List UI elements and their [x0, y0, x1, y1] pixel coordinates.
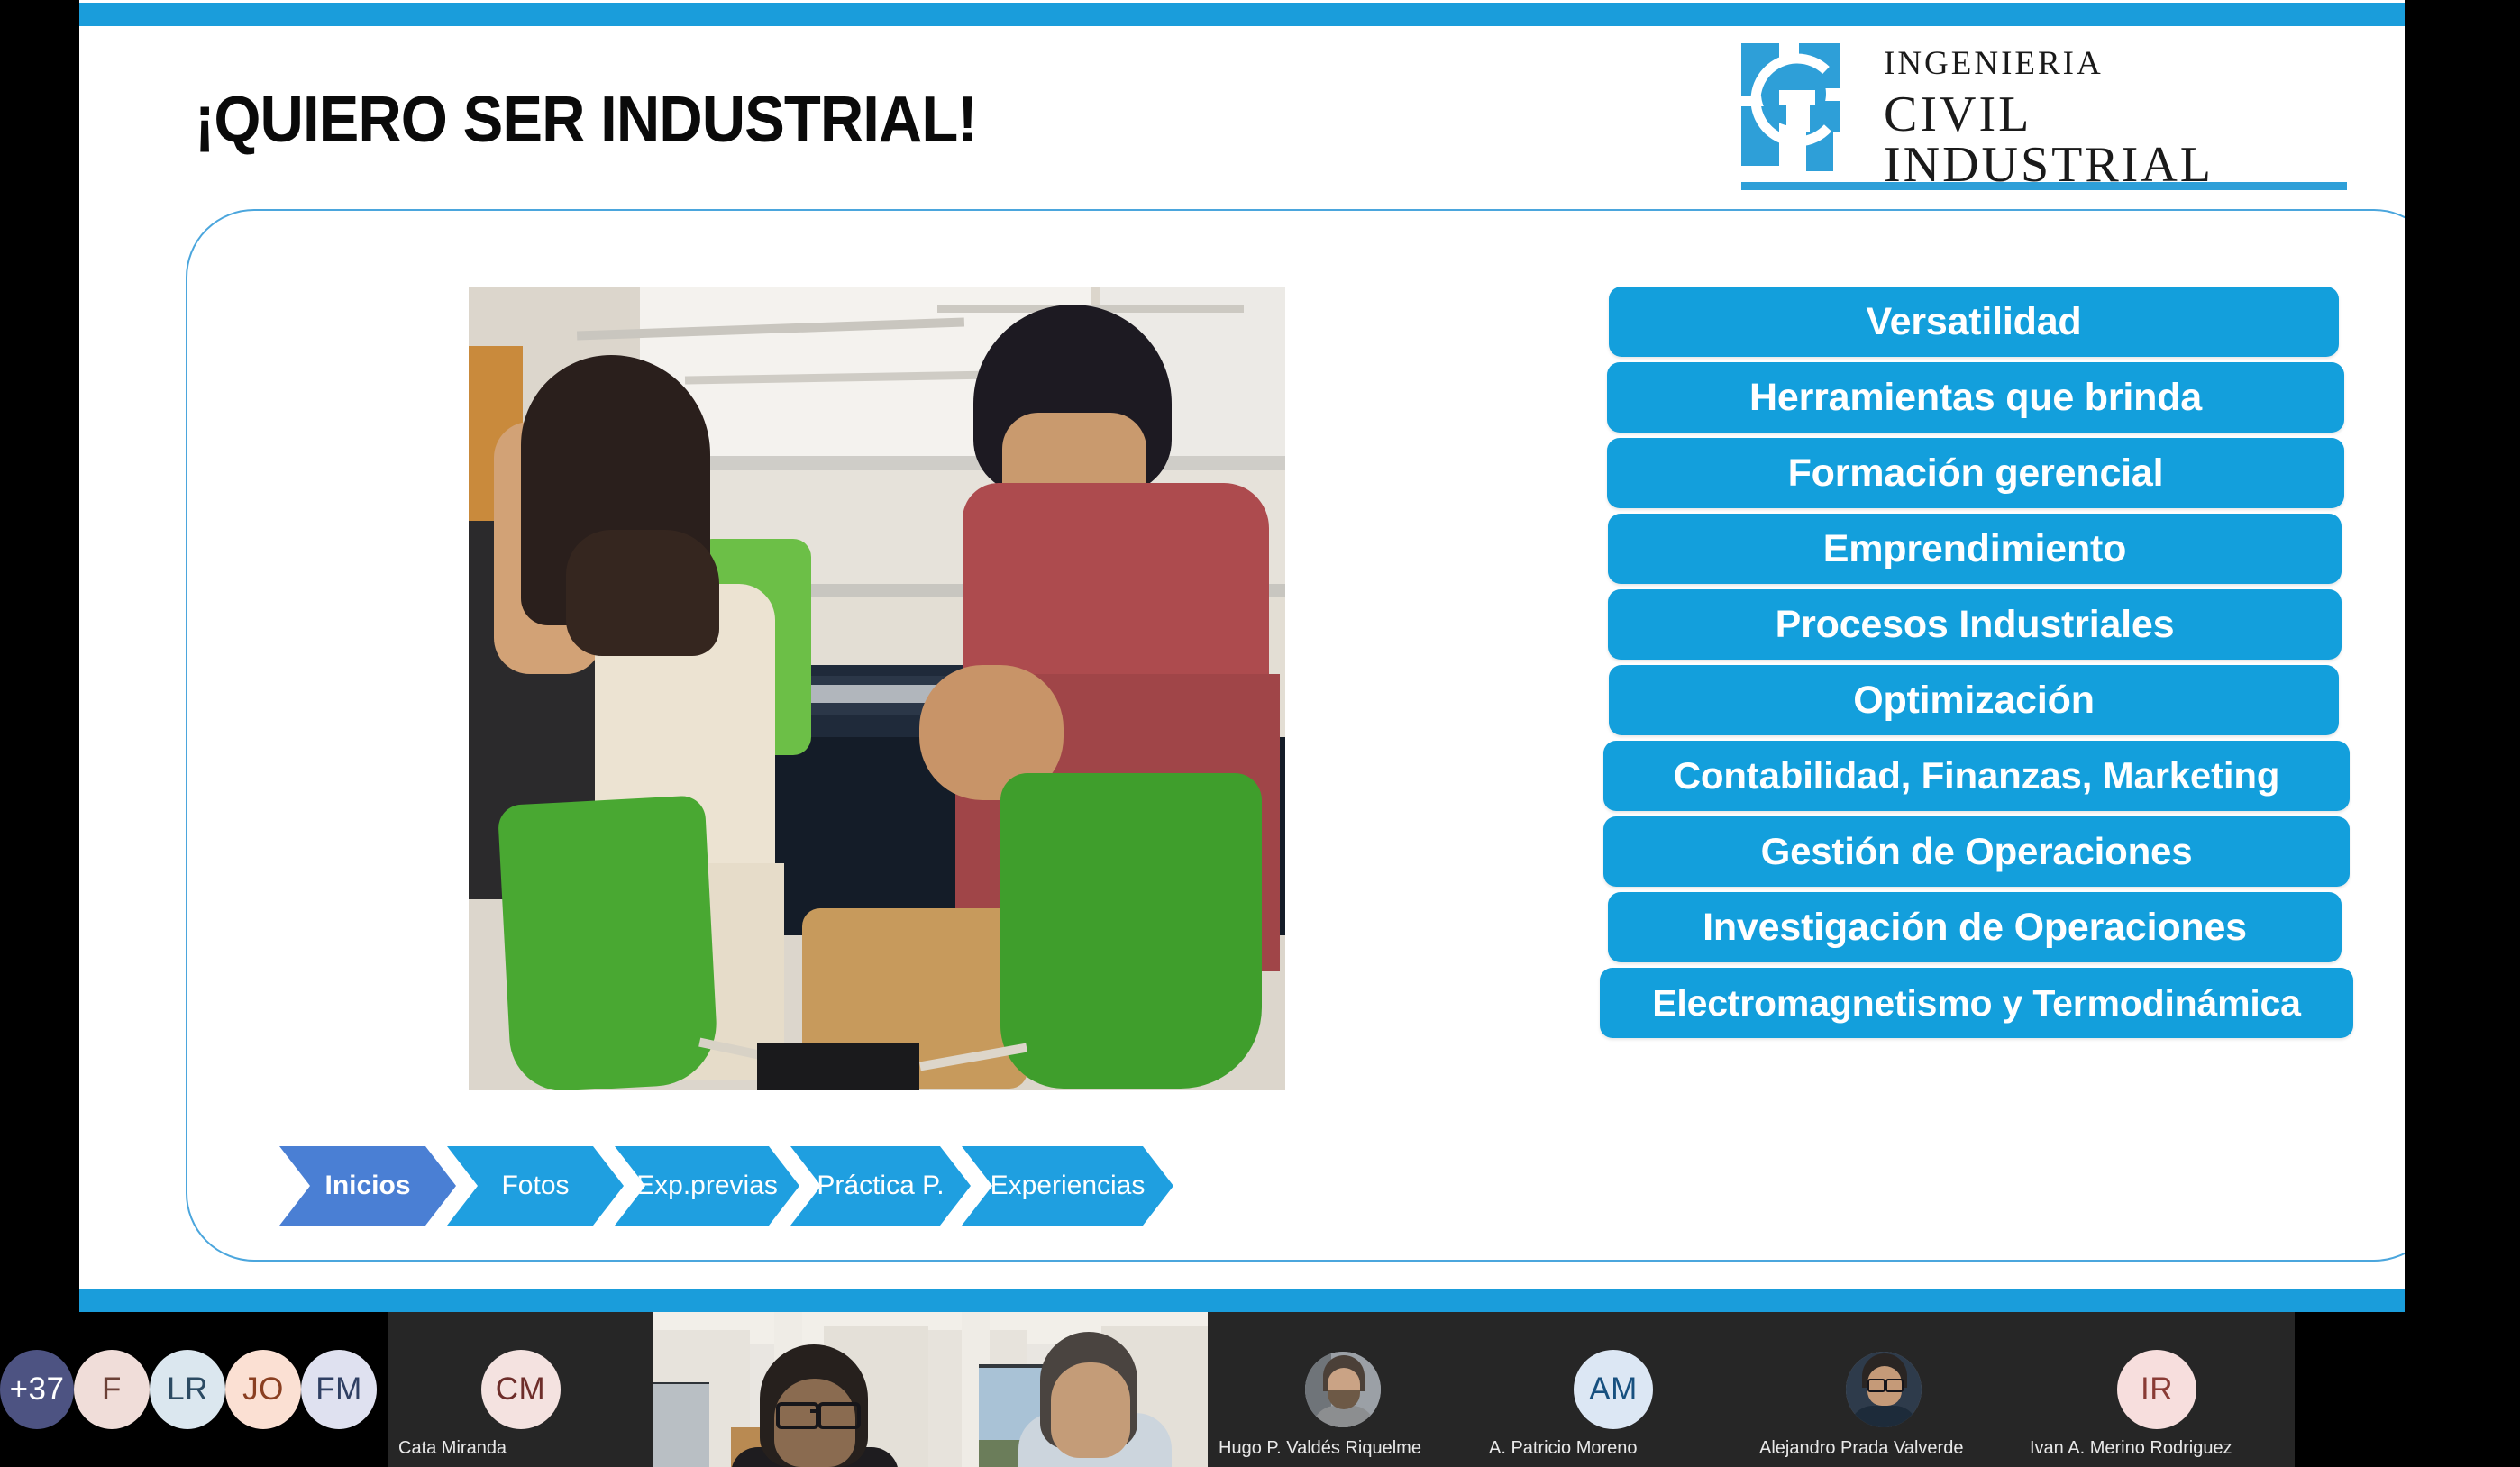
brand-logo-text: INGENIERIA CIVIL INDUSTRIAL	[1884, 47, 2352, 190]
topic-pill-optimizacion[interactable]: Optimización	[1609, 665, 2339, 735]
avatar-initials: AM	[1589, 1371, 1638, 1408]
participant-tile-fm[interactable]: FM	[301, 1312, 377, 1467]
participant-name: Ivan A. Merino Rodriguez	[2030, 1438, 2232, 1459]
avatar-initials: +37	[10, 1371, 65, 1408]
participant-tile-lr[interactable]: LR	[150, 1312, 225, 1467]
avatar-initials: FM	[315, 1371, 362, 1408]
avatar: AM	[1574, 1350, 1653, 1429]
nav-step-experiencias[interactable]: Experiencias	[962, 1146, 1173, 1226]
topic-pill-gestion[interactable]: Gestión de Operaciones	[1603, 816, 2350, 887]
shared-slide: ¡QUIERO SER INDUSTRIAL! INGENIERIA CIVIL…	[79, 0, 2405, 1312]
participant-tile-f[interactable]: F	[74, 1312, 150, 1467]
participant-tile-ivan-merino[interactable]: IR Ivan A. Merino Rodriguez	[2019, 1312, 2295, 1467]
participant-name: Cata Miranda	[398, 1438, 507, 1459]
avatar-initials: IR	[2141, 1371, 2173, 1408]
avatar: FM	[301, 1350, 377, 1429]
brand-logo: INGENIERIA CIVIL INDUSTRIAL	[1739, 36, 2352, 207]
nav-step-practica-p[interactable]: Práctica P.	[790, 1146, 971, 1226]
avatar-initials: CM	[496, 1371, 545, 1408]
nav-step-fotos[interactable]: Fotos	[447, 1146, 624, 1226]
topic-pill-electromagnetismo[interactable]: Electromagnetismo y Termodinámica	[1600, 968, 2353, 1038]
zoom-screenshare-window: ¡QUIERO SER INDUSTRIAL! INGENIERIA CIVIL…	[0, 0, 2520, 1467]
participant-tile-video-1[interactable]	[653, 1312, 928, 1467]
video-feed	[928, 1312, 1208, 1467]
avatar: IR	[2117, 1350, 2196, 1429]
avatar-photo	[1305, 1352, 1381, 1427]
avatar-photo	[1846, 1352, 1922, 1427]
participant-tile-jo[interactable]: JO	[225, 1312, 301, 1467]
slide-section-nav: Inicios Fotos Exp.previas Práctica P. Ex…	[279, 1146, 1164, 1226]
participant-tile-overflow[interactable]: +37	[0, 1312, 74, 1467]
topic-pill-versatilidad[interactable]: Versatilidad	[1609, 287, 2339, 357]
slide-bottom-accent-bar	[79, 1289, 2405, 1312]
topic-pill-emprendimiento[interactable]: Emprendimiento	[1608, 514, 2342, 584]
brand-line-2: CIVIL INDUSTRIAL	[1884, 89, 2352, 190]
avatar-initials: LR	[167, 1371, 208, 1408]
avatar: +37	[0, 1350, 74, 1429]
participant-tile-a-patricio-moreno[interactable]: AM A. Patricio Moreno	[1478, 1312, 1748, 1467]
brand-underline	[1741, 182, 2347, 190]
topic-pill-formacion[interactable]: Formación gerencial	[1607, 438, 2344, 508]
participant-name: Alejandro Prada Valverde	[1759, 1438, 1963, 1459]
topic-pill-contabilidad[interactable]: Contabilidad, Finanzas, Marketing	[1603, 741, 2350, 811]
nav-step-inicios[interactable]: Inicios	[279, 1146, 456, 1226]
avatar-initials: JO	[242, 1371, 284, 1408]
slide-top-accent-bar	[79, 3, 2405, 26]
video-feed	[653, 1312, 928, 1467]
slide-title: ¡QUIERO SER INDUSTRIAL!	[195, 83, 977, 157]
avatar: F	[74, 1350, 150, 1429]
classroom-photo	[469, 287, 1285, 1090]
participant-filmstrip: +37 F LR JO FM CM	[0, 1312, 2520, 1467]
nav-step-exp-previas[interactable]: Exp.previas	[615, 1146, 799, 1226]
avatar: JO	[225, 1350, 301, 1429]
topic-pill-investigacion[interactable]: Investigación de Operaciones	[1608, 892, 2342, 962]
avatar: LR	[150, 1350, 225, 1429]
avatar-initials: F	[102, 1371, 122, 1408]
ci-monogram-icon	[1739, 38, 1846, 173]
participant-name: Hugo P. Valdés Riquelme	[1219, 1438, 1421, 1459]
participant-tile-alejandro-prada[interactable]: Alejandro Prada Valverde	[1748, 1312, 2019, 1467]
participant-name: A. Patricio Moreno	[1489, 1438, 1638, 1459]
topic-pill-herramientas[interactable]: Herramientas que brinda	[1607, 362, 2344, 433]
participant-tile-video-2[interactable]	[928, 1312, 1208, 1467]
avatar: CM	[481, 1350, 561, 1429]
brand-line-1: INGENIERIA	[1884, 47, 2352, 80]
participant-tile-hugo-valdes[interactable]: Hugo P. Valdés Riquelme	[1208, 1312, 1478, 1467]
strip-gap	[377, 1312, 388, 1467]
participant-tile-cata-miranda[interactable]: CM Cata Miranda	[388, 1312, 653, 1467]
topic-pill-procesos[interactable]: Procesos Industriales	[1608, 589, 2342, 660]
topic-pill-list: Versatilidad Herramientas que brinda For…	[1607, 287, 2364, 1043]
